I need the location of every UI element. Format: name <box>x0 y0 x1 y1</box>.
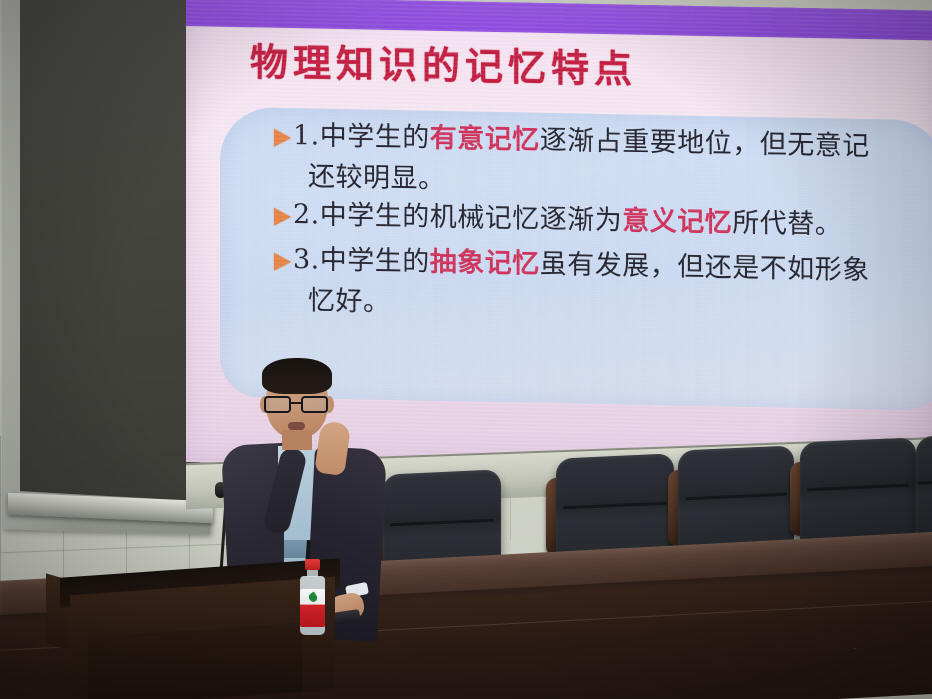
blackboard-surface <box>20 0 200 501</box>
arrow-bullet-icon <box>274 207 291 225</box>
bullet-number: 2. <box>293 201 320 229</box>
bullet-continuation: 忆好。 <box>308 278 932 330</box>
bottle-cap <box>305 559 320 570</box>
water-bottle <box>297 559 327 635</box>
blackboard-frame <box>2 0 210 535</box>
bullet-text: 虽有发展，但还是不如形象 <box>540 251 870 285</box>
bullet-number: 1. <box>293 122 320 150</box>
eyeglasses-icon <box>264 396 330 413</box>
chair <box>800 437 916 544</box>
eyeglass-lens-right <box>301 396 328 413</box>
presenter-hair <box>262 358 332 394</box>
slide-title: 物理知识的记忆特点 <box>250 31 890 98</box>
bullet-highlight: 有意记忆 <box>430 125 540 155</box>
bullet-highlight: 抽象记忆 <box>430 249 540 279</box>
arrow-bullet-icon <box>274 129 291 147</box>
bullet-text: 中学生的 <box>320 123 430 153</box>
chair <box>678 445 794 554</box>
list-item: 2. 中学生的机械记忆逐渐为 意义记忆 所代替。 <box>274 200 932 241</box>
screenshot-root: 物理知识的记忆特点 1. 中学生的 有意记忆 逐渐占重要地位，但无意记 还较明显… <box>0 0 932 699</box>
eyeglass-lens-left <box>264 396 291 413</box>
presenter-mouth <box>288 422 305 430</box>
bullet-text: 中学生的 <box>320 247 430 277</box>
chair <box>916 435 932 537</box>
bullet-text: 中学生的机械记忆逐渐为 <box>320 201 623 234</box>
eyeglass-bridge <box>291 402 301 404</box>
bullet-text: 逐渐占重要地位，但无意记 <box>540 127 870 161</box>
slide-bullet-list: 1. 中学生的 有意记忆 逐渐占重要地位，但无意记 还较明显。 2. 中学生的机… <box>274 122 932 338</box>
bullet-continuation: 还较明显。 <box>308 154 932 206</box>
bullet-highlight: 意义记忆 <box>622 207 732 237</box>
arrow-bullet-icon <box>274 253 291 271</box>
bottle-neck <box>307 569 318 577</box>
bullet-text: 所代替。 <box>732 209 842 239</box>
bullet-number: 3. <box>293 246 320 274</box>
presenter-neck <box>282 430 312 450</box>
